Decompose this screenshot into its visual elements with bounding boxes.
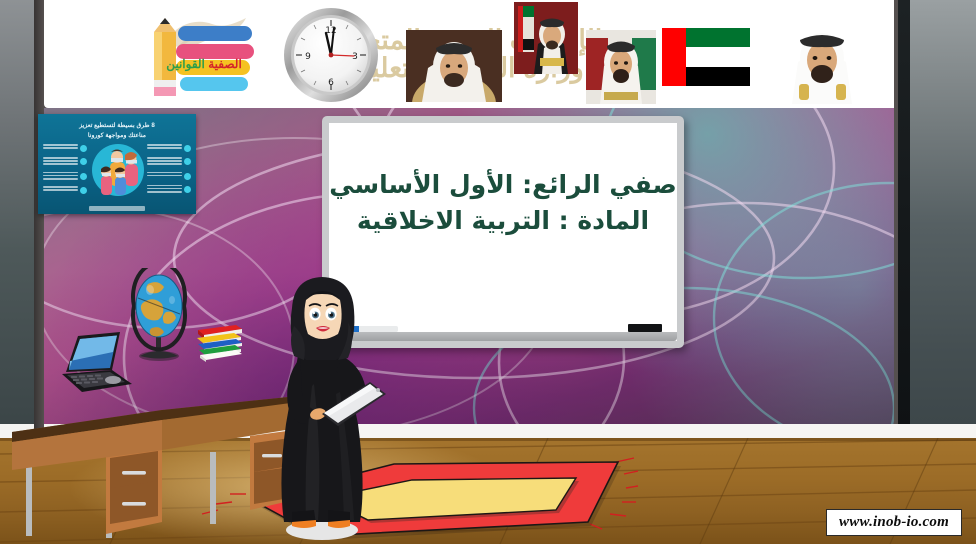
poster-tips-left	[43, 144, 87, 194]
tip-bullet-icon	[184, 186, 191, 193]
teacher-desk	[2, 340, 302, 540]
poster-tip	[147, 172, 191, 180]
portrait-sheikh-2	[514, 2, 578, 74]
clock-numeral-9: 9	[305, 52, 311, 62]
portrait-sheikh-4	[768, 22, 876, 104]
desk-leg	[210, 452, 216, 524]
covid-awareness-poster: 8 طرق بسيطة لتستطيع تعزيز مناعتك ومواجهة…	[38, 114, 196, 214]
logo-word-green: القوانين	[166, 57, 205, 71]
flag-green-stripe	[686, 28, 750, 47]
poster-title-line-1: 8 طرق بسيطة لتستطيع تعزيز	[44, 121, 190, 131]
book-stack	[196, 320, 244, 362]
poster-tip	[43, 172, 87, 182]
room-right-edge-dark	[898, 0, 910, 432]
portrait-sheikh-3	[586, 30, 656, 104]
poster-tip	[147, 185, 191, 195]
uae-flag	[662, 28, 750, 86]
poster-title-line-2: مناعتك ومواجهة كورونا	[44, 131, 190, 141]
flag-black-stripe	[686, 67, 750, 86]
flag-red-bar	[662, 28, 686, 86]
clock-numeral-6: 6	[328, 78, 334, 88]
slide-title-line-1: صفي الرائع: الأول الأساسي	[329, 167, 677, 203]
watermark-url: www.inob-io.com	[839, 514, 949, 530]
poster-tip	[43, 157, 87, 167]
site-watermark: www.inob-io.com	[826, 509, 962, 536]
tip-bullet-icon	[80, 145, 87, 152]
header-banner: الإمارات العربية المتحدة وزارة التربية و…	[44, 0, 894, 108]
tip-bullet-icon	[80, 173, 87, 180]
laptop[interactable]	[58, 330, 134, 396]
clock-numeral-3: 3	[352, 52, 358, 62]
flag-white-stripe	[686, 47, 750, 66]
slide-title-line-2: المادة : التربية الاخلاقية	[329, 203, 677, 239]
logo-caption: الصفية القوانين	[152, 58, 256, 70]
tip-bullet-icon	[184, 173, 191, 180]
poster-tip	[43, 144, 87, 152]
poster-logo-bar	[89, 206, 145, 211]
tip-bullet-icon	[80, 158, 87, 165]
portrait-sheikh-1	[406, 30, 502, 102]
poster-tips-right	[147, 144, 191, 194]
slide-title-block: صفي الرائع: الأول الأساسي المادة : الترب…	[329, 167, 677, 238]
poster-tip	[147, 157, 191, 167]
tip-bullet-icon	[80, 187, 87, 194]
wall-clock-icon: 12 3 6 9	[282, 6, 380, 104]
laptop-trackpad	[105, 376, 121, 384]
family-illustration	[92, 144, 144, 200]
logo-word-red: الصفية	[208, 57, 242, 71]
tip-bullet-icon	[184, 145, 191, 152]
poster-tip	[147, 144, 191, 152]
poster-title: 8 طرق بسيطة لتستطيع تعزيز مناعتك ومواجهة…	[44, 121, 190, 140]
poster-tip	[43, 186, 87, 194]
whiteboard-eraser	[628, 324, 662, 332]
room-right-wall	[910, 0, 976, 432]
globe	[128, 268, 190, 366]
tip-bullet-icon	[184, 158, 191, 165]
teacher-character	[262, 274, 388, 540]
slide-canvas: الإمارات العربية المتحدة وزارة التربية و…	[0, 0, 976, 544]
